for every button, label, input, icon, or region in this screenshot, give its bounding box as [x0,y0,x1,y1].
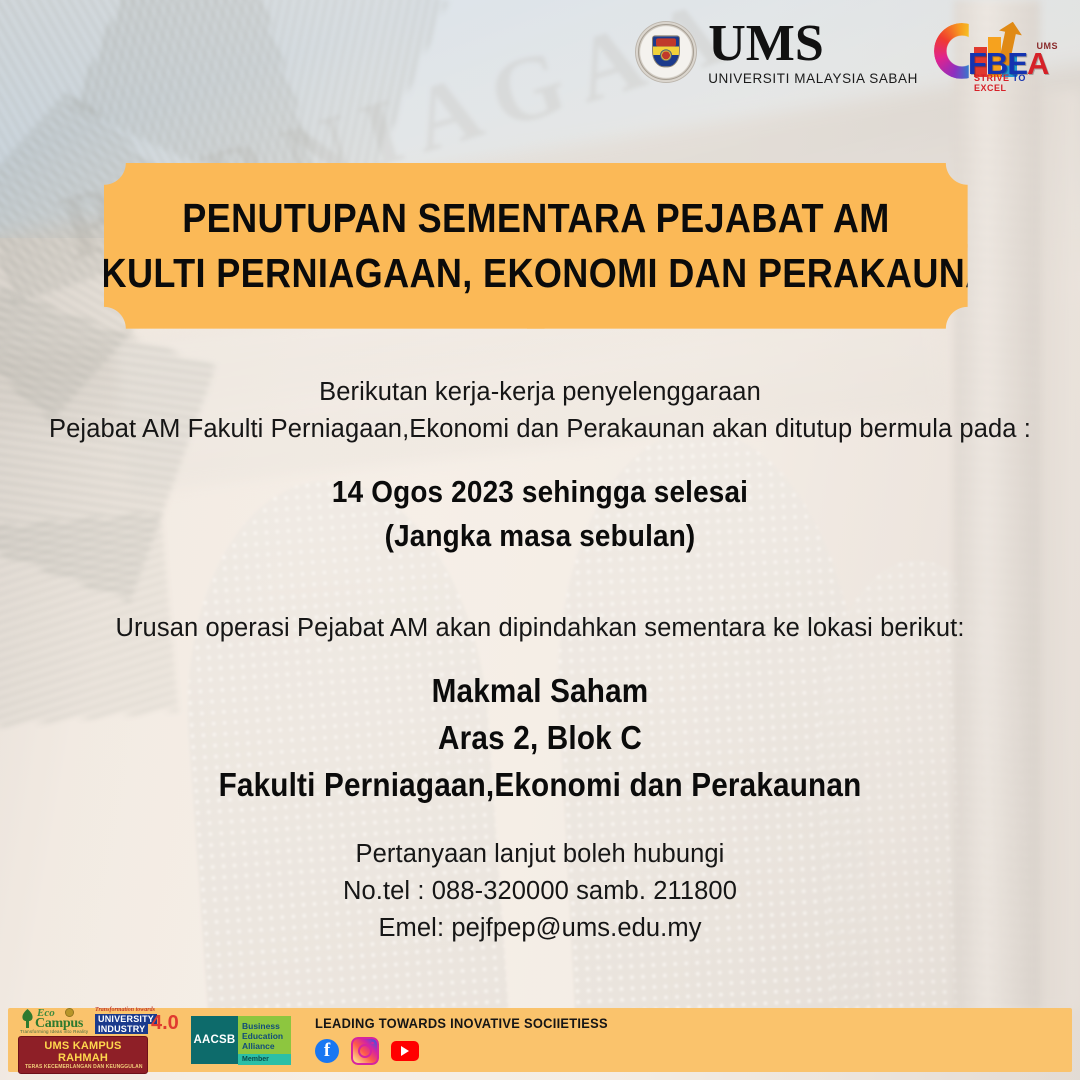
tree-icon [19,1008,36,1030]
aacsb-alliance: Business Education Alliance [238,1016,291,1054]
eco-campus-logo: Eco Campus Transforming Ideas into Reali… [18,1007,90,1033]
university-industry-logo: Transformation towards UNIVERSITY INDUST… [95,1007,181,1033]
ums-acronym: UMS [708,18,918,70]
social-links [315,1037,633,1065]
eco-campus-row: Eco Campus Transforming Ideas into Reali… [18,1007,181,1033]
slogan-and-social: LEADING TOWARDS INOVATIVE SOCIIETIESS [315,1015,633,1065]
footer-slogan: LEADING TOWARDS INOVATIVE SOCIIETIESS [315,1015,608,1031]
tagline-mid: TO [1013,73,1026,83]
instagram-dot [371,1042,374,1045]
intro-line-1: Berikutan kerja-kerja penyelenggaraan [0,374,1080,411]
contact-line-1: Pertanyaan lanjut boleh hubungi [0,836,1080,873]
ui-line-1: UNIVERSITY [95,1014,157,1024]
rahmah-line-2: TERAS KECEMERLANGAN DAN KEUNGGULAN [25,1064,141,1071]
faculty-logo: FBEA STRIVE TO EXCEL UMS [934,19,1058,85]
kampus-rahmah-badge: UMS KAMPUS RAHMAH TERAS KECEMERLANGAN DA… [18,1036,148,1074]
instagram-icon[interactable] [351,1037,379,1065]
location-line-1: Makmal Saham [54,668,1026,715]
eco-campus-subtitle: Transforming Ideas into Reality [20,1029,88,1034]
faculty-logo-mini-label: UMS [1037,41,1059,51]
announcement-poster: PERNIAGAAN UMS UNIVERSITI MALAYSIA SABAH [0,0,1080,1080]
intro-block: Berikutan kerja-kerja penyelenggaraan Pe… [0,374,1080,448]
relocation-note: Urusan operasi Pejabat AM akan dipindahk… [0,610,1080,647]
aacsb-status: Member [238,1054,291,1065]
facebook-icon[interactable] [315,1039,339,1063]
ui-top-text: Transformation towards [95,1007,155,1013]
banner-title-line-1: PENUTUPAN SEMENTARA PEJABAT AM [182,195,889,243]
tagline-right: EXCEL [974,83,1007,93]
location-line-3: Fakulti Perniagaan,Ekonomi dan Perakauna… [54,762,1026,809]
ui-line-2: INDUSTRY [95,1024,148,1034]
relocation-note-block: Urusan operasi Pejabat AM akan dipindahk… [0,610,1080,647]
ums-logo: UMS UNIVERSITI MALAYSIA SABAH [635,18,918,86]
aacsb-logo: AACSB Business Education Alliance Member [191,1016,291,1064]
closure-date-line-2: (Jangka masa sebulan) [54,514,1026,558]
youtube-icon[interactable] [391,1041,419,1061]
ui-version: 4.0 [151,1013,179,1033]
ums-crest-icon [635,21,697,83]
ums-wordmark: UMS UNIVERSITI MALAYSIA SABAH [708,18,918,86]
closure-date-line-1: 14 Ogos 2023 sehingga selesai [54,470,1026,514]
contact-block: Pertanyaan lanjut boleh hubungi No.tel :… [0,836,1080,947]
eco-campus-group: Eco Campus Transforming Ideas into Reali… [18,1007,181,1074]
instagram-ring [358,1044,372,1058]
eco-seal-icon [65,1008,74,1017]
banner-title-line-2: FAKULTI PERNIAGAAN, EKONOMI DAN PERAKAUN… [54,250,1018,298]
closure-date-block: 14 Ogos 2023 sehingga selesai (Jangka ma… [0,470,1080,558]
location-line-2: Aras 2, Blok C [54,715,1026,762]
temporary-location-block: Makmal Saham Aras 2, Blok C Fakulti Pern… [0,668,1080,809]
aacsb-acronym: AACSB [191,1016,238,1064]
contact-phone: No.tel : 088-320000 samb. 211800 [0,873,1080,910]
title-banner: PENUTUPAN SEMENTARA PEJABAT AM FAKULTI P… [104,163,968,329]
intro-line-2: Pejabat AM Fakulti Perniagaan,Ekonomi da… [0,411,1080,448]
crest-shield-icon [652,35,680,67]
rahmah-line-1: UMS KAMPUS RAHMAH [25,1040,141,1064]
contact-email[interactable]: Emel: pejfpep@ums.edu.my [0,910,1080,947]
ums-full-name: UNIVERSITI MALAYSIA SABAH [708,72,918,86]
faculty-tagline: STRIVE TO EXCEL [974,73,1058,93]
footer-bar: Eco Campus Transforming Ideas into Reali… [8,1008,1072,1072]
aacsb-right-panel: Business Education Alliance Member [238,1016,291,1064]
header-logos: UMS UNIVERSITI MALAYSIA SABAH FBEA STRIV… [635,18,1058,86]
tagline-left: STRIVE [974,73,1010,83]
